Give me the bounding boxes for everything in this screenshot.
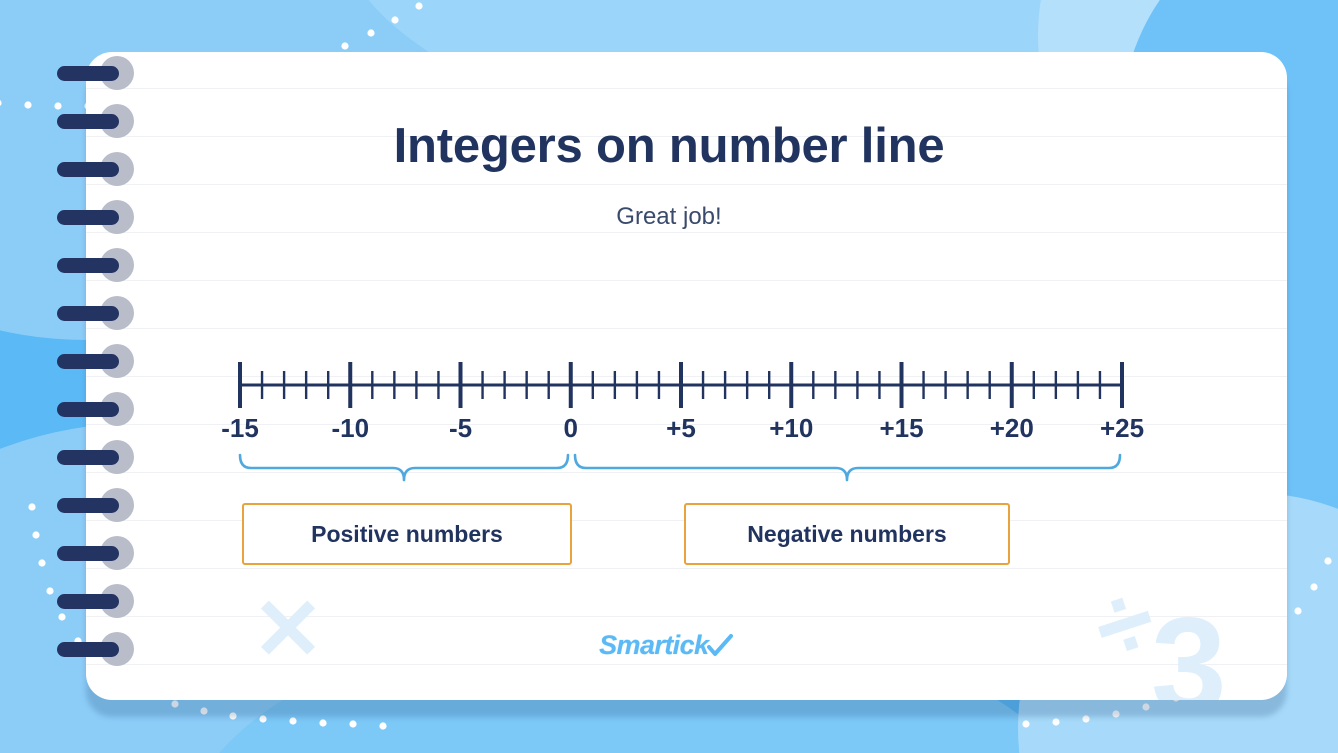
group-box-right[interactable]: Negative numbers xyxy=(684,503,1010,565)
spiral-ring-bar xyxy=(57,354,119,369)
spiral-ring-bar xyxy=(57,114,119,129)
spiral-ring-bar xyxy=(57,258,119,273)
number-line-tick-label: -10 xyxy=(331,413,369,444)
spiral-ring-bar xyxy=(57,450,119,465)
number-line-tick-label: +5 xyxy=(666,413,696,444)
left-brace xyxy=(240,455,568,480)
brand-logo: Smartick xyxy=(0,630,1338,661)
number-line-tick-label: +15 xyxy=(879,413,923,444)
right-brace xyxy=(575,455,1120,480)
spiral-ring-bar xyxy=(57,594,119,609)
group-box-left[interactable]: Positive numbers xyxy=(242,503,572,565)
spiral-ring-bar xyxy=(57,210,119,225)
number-line-tick-label: 0 xyxy=(564,413,578,444)
slide-canvas: ✕ ÷ 3 Integers on number line Great job!… xyxy=(0,0,1338,753)
spiral-ring-bar xyxy=(57,306,119,321)
spiral-ring-bar xyxy=(57,402,119,417)
spiral-ring-bar xyxy=(57,66,119,81)
number-line-tick-label: -15 xyxy=(221,413,259,444)
check-swoosh-icon xyxy=(707,634,733,658)
number-line-tick-label: +25 xyxy=(1100,413,1144,444)
number-line-tick-label: +20 xyxy=(990,413,1034,444)
brand-logo-text: Smartick xyxy=(599,630,708,661)
spiral-ring-bar xyxy=(57,546,119,561)
number-line-tick-label: -5 xyxy=(449,413,472,444)
number-line-tick-label: +10 xyxy=(769,413,813,444)
spiral-ring-bar xyxy=(57,162,119,177)
spiral-ring-bar xyxy=(57,498,119,513)
